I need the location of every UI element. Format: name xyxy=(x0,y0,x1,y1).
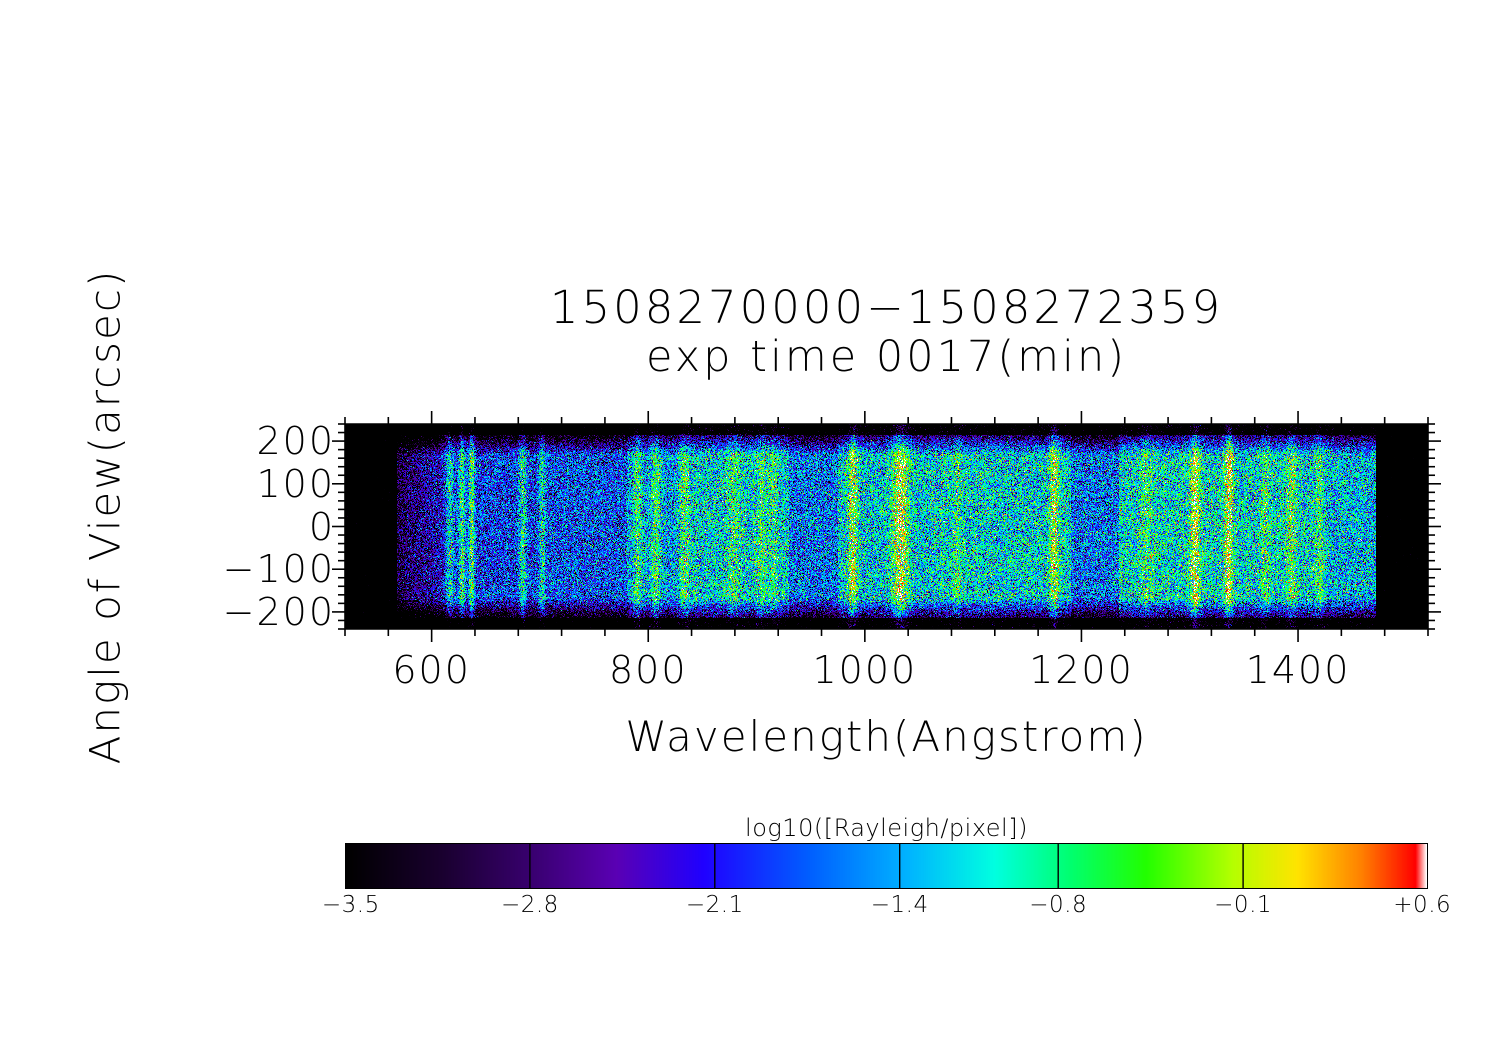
x-tick-label: 600 xyxy=(392,648,471,692)
y-tick-label: 200 xyxy=(256,422,335,460)
colorbar-tick-labels: −3.5−2.8−2.1−1.4−0.8−0.1+0.6 xyxy=(345,892,1428,932)
colorbar-gradient xyxy=(346,844,1427,888)
x-tick-label: 1200 xyxy=(1029,648,1134,692)
y-tick-label: −100 xyxy=(223,550,335,588)
colorbar-tick-label: −0.1 xyxy=(1214,892,1272,918)
y-tick-label: 0 xyxy=(309,508,335,546)
colorbar-tick-label: +0.6 xyxy=(1393,892,1451,918)
title-line-1: 1508270000−1508272359 xyxy=(345,283,1428,333)
y-tick-label: 100 xyxy=(256,465,335,503)
plot-title: 1508270000−1508272359 exp time 0017(min) xyxy=(345,283,1428,381)
x-axis-title: Wavelength(Angstrom) xyxy=(345,712,1428,761)
colorbar-tick-label: −0.8 xyxy=(1029,892,1087,918)
y-tick-label: −200 xyxy=(223,593,335,631)
colorbar-tick-label: −3.5 xyxy=(322,892,380,918)
spectrogram-panel xyxy=(345,424,1428,629)
colorbar-tick-label: −2.8 xyxy=(501,892,559,918)
colorbar xyxy=(345,843,1428,889)
spectrogram-image xyxy=(345,424,1428,629)
colorbar-tick-label: −2.1 xyxy=(686,892,744,918)
colorbar-tick-label: −1.4 xyxy=(871,892,929,918)
x-tick-label: 800 xyxy=(609,648,688,692)
title-line-2: exp time 0017(min) xyxy=(345,333,1428,381)
x-axis-tick-labels: 600800100012001400 xyxy=(345,648,1428,698)
y-axis-tick-labels: 2001000−100−200 xyxy=(200,424,335,629)
x-tick-label: 1400 xyxy=(1246,648,1351,692)
y-axis-title: Angle of View(arcsec) xyxy=(81,257,130,777)
x-tick-label: 1000 xyxy=(812,648,917,692)
colorbar-title: log10([Rayleigh/pixel]) xyxy=(345,814,1428,842)
